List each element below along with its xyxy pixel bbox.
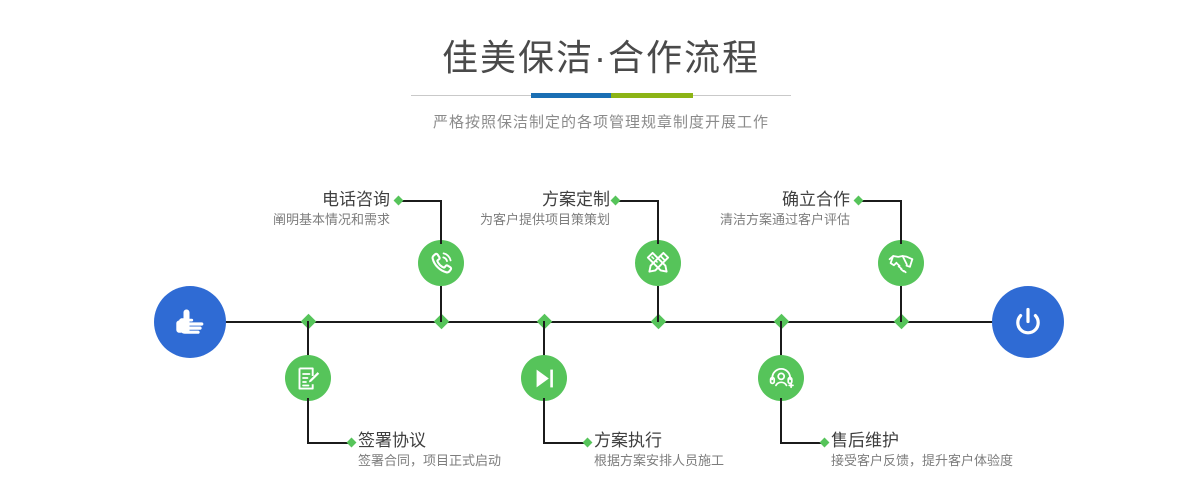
connector-vertical-lower (307, 398, 309, 444)
phone-call-icon-badge[interactable] (418, 240, 464, 286)
power-icon (1008, 302, 1048, 342)
connector-vertical (440, 286, 442, 322)
connector-vertical (780, 321, 782, 357)
label-marker (347, 438, 357, 448)
label-marker (854, 196, 864, 206)
label-marker (611, 196, 621, 206)
connector-horizontal (860, 200, 902, 202)
step-label: 方案执行 根据方案安排人员施工 (594, 430, 834, 471)
connector-vertical-lower (543, 398, 545, 444)
step-label: 确立合作 清洁方案通过客户评估 (645, 189, 850, 230)
step-title: 售后维护 (831, 430, 1091, 451)
step-desc: 为客户提供项目策策划 (410, 210, 610, 230)
step-desc: 清洁方案通过客户评估 (645, 210, 850, 230)
document-edit-icon-badge[interactable] (285, 355, 331, 401)
step-label: 方案定制 为客户提供项目策策划 (410, 189, 610, 230)
step-desc: 签署合同，项目正式启动 (358, 451, 598, 471)
phone-call-icon (427, 249, 455, 277)
connector-vertical (543, 321, 545, 357)
step-desc: 根据方案安排人员施工 (594, 451, 834, 471)
label-marker (394, 196, 404, 206)
pencil-ruler-icon-badge[interactable] (635, 240, 681, 286)
customer-service-add-icon-badge[interactable] (758, 355, 804, 401)
pencil-ruler-icon (644, 249, 672, 277)
flow-diagram-page: 佳美保洁·合作流程 严格按照保洁制定的各项管理规章制度开展工作 (0, 0, 1202, 502)
connector-vertical (900, 286, 902, 322)
step-label: 电话咨询 阐明基本情况和需求 (190, 189, 390, 230)
pointing-hand-icon (170, 302, 210, 342)
step-label: 签署协议 签署合同，项目正式启动 (358, 430, 598, 471)
step-desc: 接受客户反馈，提升客户体验度 (831, 451, 1091, 471)
step-title: 方案执行 (594, 430, 834, 451)
connector-vertical-lower (780, 398, 782, 444)
step-label: 售后维护 接受客户反馈，提升客户体验度 (831, 430, 1091, 471)
connector-horizontal (307, 442, 351, 444)
play-next-icon (531, 365, 558, 392)
step-title: 签署协议 (358, 430, 598, 451)
timeline-end-endcap[interactable] (992, 286, 1064, 358)
connector-horizontal (543, 442, 587, 444)
connector-vertical (657, 286, 659, 322)
play-next-icon-badge[interactable] (521, 355, 567, 401)
connector-horizontal (780, 442, 824, 444)
timeline-start-endcap[interactable] (154, 286, 226, 358)
connector-vertical-upper (900, 200, 902, 244)
process-timeline: 电话咨询 阐明基本情况和需求 (0, 0, 1202, 502)
connector-vertical (307, 321, 309, 357)
document-edit-icon (295, 365, 322, 392)
step-title: 确立合作 (645, 189, 850, 210)
step-desc: 阐明基本情况和需求 (190, 210, 390, 230)
customer-service-add-icon (768, 365, 795, 392)
step-title: 方案定制 (410, 189, 610, 210)
step-title: 电话咨询 (190, 189, 390, 210)
handshake-icon-badge[interactable] (878, 240, 924, 286)
handshake-icon (887, 249, 915, 277)
